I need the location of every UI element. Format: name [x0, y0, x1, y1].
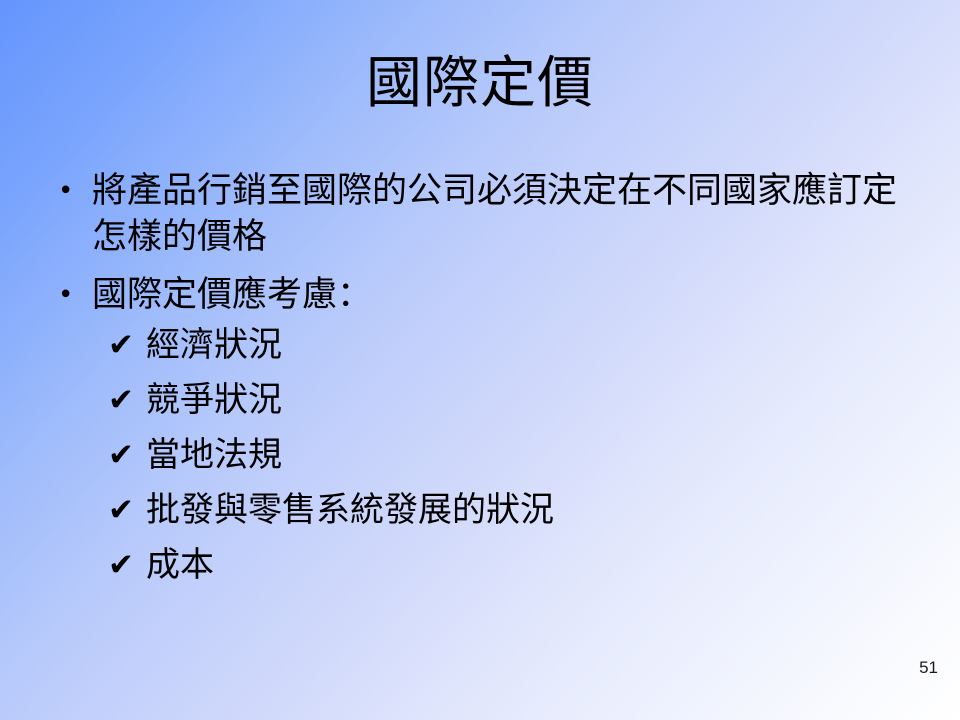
sub-item-5: ✔ 成本 [46, 538, 926, 593]
bullet-item-2-label: 國際定價應考慮： [92, 272, 926, 318]
bullet-dot-icon: • [58, 168, 73, 214]
bullet-dot-icon: • [58, 272, 73, 318]
bullet-item-1-label: 將產品行銷至國際的公司必須決定在不同國家應訂定怎樣的價格 [92, 168, 926, 260]
sub-item-2: ✔ 競爭狀況 [46, 373, 926, 428]
sub-item-1-label: 經濟狀況 [146, 325, 282, 365]
bullet-item-2: • 國際定價應考慮： [46, 272, 926, 318]
presentation-slide: 國際定價 • 將產品行銷至國際的公司必須決定在不同國家應訂定怎樣的價格 • 國際… [0, 0, 960, 720]
bullet-spacer [46, 260, 926, 272]
sub-item-5-label: 成本 [146, 545, 214, 585]
check-icon: ✔ [108, 483, 134, 538]
check-icon: ✔ [108, 373, 134, 428]
bullet-item-1: • 將產品行銷至國際的公司必須決定在不同國家應訂定怎樣的價格 [46, 168, 926, 260]
page-number: 51 [919, 658, 938, 678]
sub-item-3: ✔ 當地法規 [46, 428, 926, 483]
slide-title: 國際定價 [0, 52, 960, 116]
check-icon: ✔ [108, 428, 134, 483]
check-icon: ✔ [108, 318, 134, 373]
sub-item-4-label: 批發與零售系統發展的狀況 [146, 490, 554, 530]
sub-item-2-label: 競爭狀況 [146, 380, 282, 420]
slide-body: • 將產品行銷至國際的公司必須決定在不同國家應訂定怎樣的價格 • 國際定價應考慮… [46, 168, 926, 593]
sub-item-4: ✔ 批發與零售系統發展的狀況 [46, 483, 926, 538]
sub-item-1: ✔ 經濟狀況 [46, 318, 926, 373]
sub-item-3-label: 當地法規 [146, 435, 282, 475]
check-icon: ✔ [108, 538, 134, 593]
